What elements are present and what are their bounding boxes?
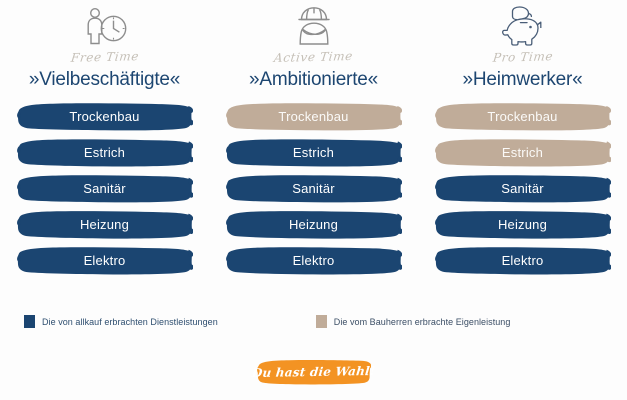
column-script-label: Active Time bbox=[273, 49, 354, 67]
column-ambitionierte: Active Time »Ambitionierte« Trockenbau bbox=[209, 0, 418, 300]
bar-label: Heizung bbox=[80, 217, 129, 232]
legend-label: Die vom Bauherren erbrachte Eigenleistun… bbox=[334, 317, 511, 327]
column-title: »Vielbeschäftigte« bbox=[29, 69, 180, 91]
bar-heizung[interactable]: Heizung bbox=[226, 209, 402, 239]
bar-heizung[interactable]: Heizung bbox=[17, 209, 193, 239]
bar-elektro[interactable]: Elektro bbox=[435, 245, 611, 275]
bar-label: Elektro bbox=[84, 253, 126, 268]
bar-estrich[interactable]: Estrich bbox=[226, 137, 402, 167]
bar-label: Sanitär bbox=[501, 181, 544, 196]
legend-item-eigenleistung: Die vom Bauherren erbrachte Eigenleistun… bbox=[316, 315, 511, 328]
bar-label: Trockenbau bbox=[487, 109, 557, 124]
bar-heizung[interactable]: Heizung bbox=[435, 209, 611, 239]
legend-item-dienstleistungen: Die von allkauf erbrachten Dienstleistun… bbox=[24, 315, 218, 328]
bars-list: Trockenbau Estrich bbox=[209, 101, 418, 275]
worker-helmet-icon bbox=[288, 4, 340, 48]
bar-label: Sanitär bbox=[83, 181, 126, 196]
column-heimwerker: Pro Time »Heimwerker« Trockenbau bbox=[418, 0, 627, 300]
bar-elektro[interactable]: Elektro bbox=[17, 245, 193, 275]
bars-list: Trockenbau Estrich bbox=[418, 101, 627, 275]
bar-label: Elektro bbox=[293, 253, 335, 268]
bar-label: Heizung bbox=[289, 217, 338, 232]
bar-label: Estrich bbox=[293, 145, 334, 160]
column-title: »Ambitionierte« bbox=[249, 69, 378, 91]
piggy-bank-icon bbox=[497, 4, 549, 48]
bar-label: Estrich bbox=[84, 145, 125, 160]
bars-list: Trockenbau Estrich bbox=[0, 101, 209, 275]
legend: Die von allkauf erbrachten Dienstleistun… bbox=[24, 315, 584, 328]
bar-trockenbau[interactable]: Trockenbau bbox=[17, 101, 193, 131]
bar-label: Trockenbau bbox=[69, 109, 139, 124]
legend-swatch-blue bbox=[24, 315, 35, 328]
bar-estrich[interactable]: Estrich bbox=[435, 137, 611, 167]
bar-sanitaer[interactable]: Sanitär bbox=[17, 173, 193, 203]
column-script-label: Pro Time bbox=[491, 49, 553, 67]
columns-container: Free Time »Vielbeschäftigte« Trockenbau bbox=[0, 0, 627, 300]
bar-sanitaer[interactable]: Sanitär bbox=[226, 173, 402, 203]
bar-label: Trockenbau bbox=[278, 109, 348, 124]
bar-label: Estrich bbox=[502, 145, 543, 160]
bar-estrich[interactable]: Estrich bbox=[17, 137, 193, 167]
bar-trockenbau[interactable]: Trockenbau bbox=[226, 101, 402, 131]
column-script-label: Free Time bbox=[70, 49, 140, 67]
infographic-page: Free Time »Vielbeschäftigte« Trockenbau bbox=[0, 0, 627, 400]
column-vielbeschaeftigte: Free Time »Vielbeschäftigte« Trockenbau bbox=[0, 0, 209, 300]
bar-trockenbau[interactable]: Trockenbau bbox=[435, 101, 611, 131]
cta-label: Du hast die Wahl! bbox=[251, 363, 376, 379]
column-title: »Heimwerker« bbox=[462, 69, 582, 91]
bar-sanitaer[interactable]: Sanitär bbox=[435, 173, 611, 203]
legend-swatch-tan bbox=[316, 315, 327, 328]
legend-label: Die von allkauf erbrachten Dienstleistun… bbox=[42, 317, 218, 327]
bar-label: Sanitär bbox=[292, 181, 335, 196]
bar-label: Heizung bbox=[498, 217, 547, 232]
bar-label: Elektro bbox=[502, 253, 544, 268]
person-clock-icon bbox=[79, 4, 131, 48]
cta-container: Du hast die Wahl! bbox=[0, 358, 627, 385]
cta-button-du-hast-die-wahl[interactable]: Du hast die Wahl! bbox=[257, 358, 371, 385]
bar-elektro[interactable]: Elektro bbox=[226, 245, 402, 275]
